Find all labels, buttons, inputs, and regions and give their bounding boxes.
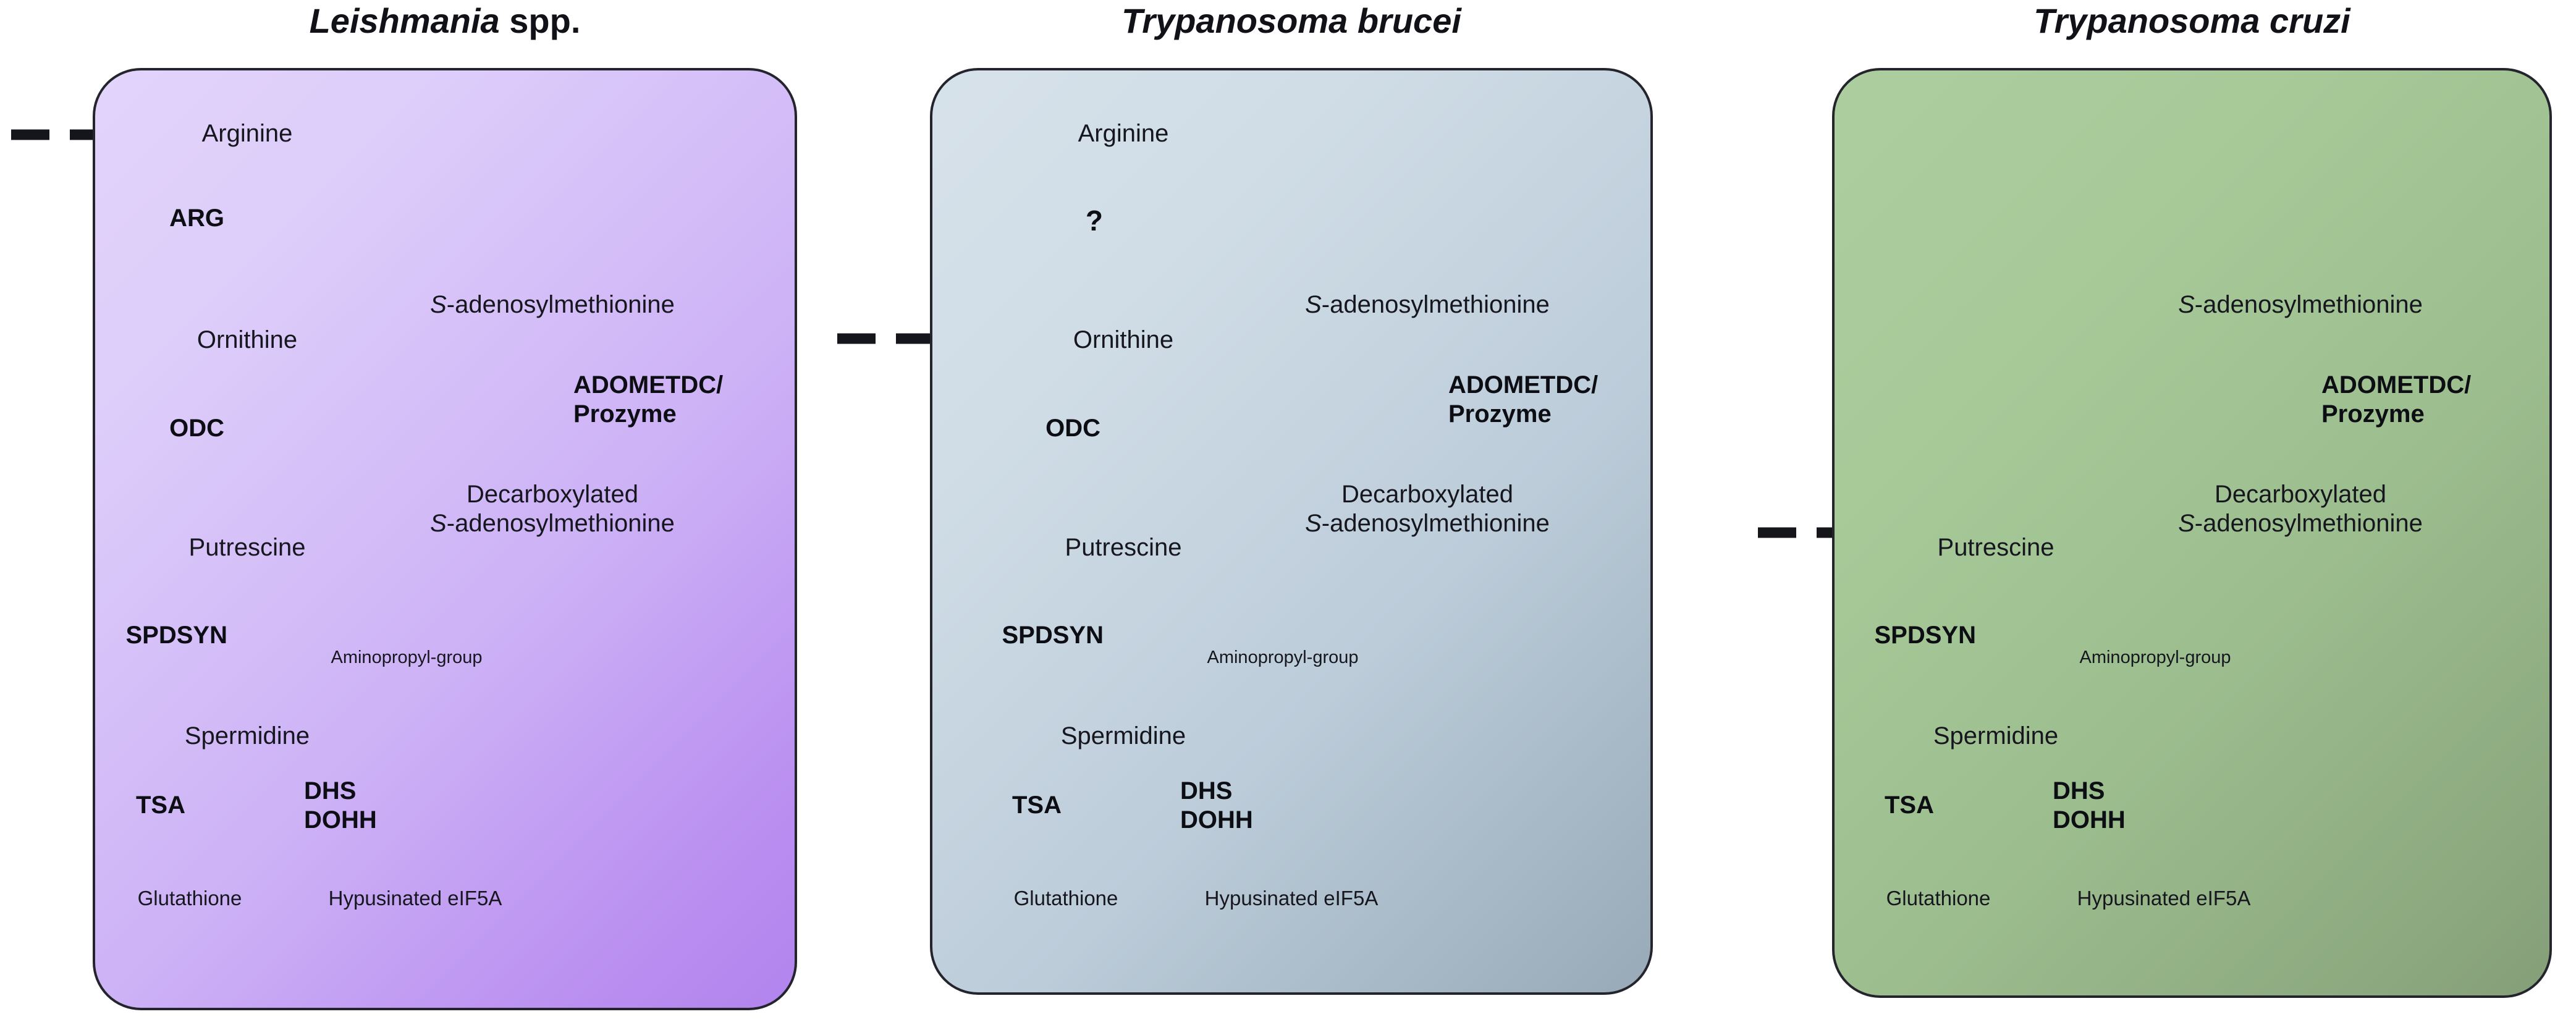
dohh-label: DOHH <box>1180 806 1253 835</box>
adometdc-line2: Prozyme <box>1448 400 1598 429</box>
enzyme-spdsyn-cruzi: SPDSYN <box>1875 621 1977 650</box>
adometdc-line1: ADOMETDC/ <box>573 371 723 400</box>
node-sam-cruzi: S-adenosylmethionine <box>2178 290 2423 319</box>
node-putrescine-brucei: Putrescine <box>1065 533 1182 562</box>
node-spermidine-cruzi: Spermidine <box>1933 722 2058 751</box>
node-putrescine-cruzi: Putrescine <box>1938 533 2054 562</box>
node-dcsam-brucei: Decarboxylated S-adenosylmethionine <box>1305 480 1550 538</box>
title-genus: Leishmania <box>310 1 500 40</box>
node-glutathione-leishmania: Glutathione <box>138 887 242 910</box>
node-dcsam-leishmania: Decarboxylated S-adenosylmethionine <box>430 480 675 538</box>
node-arginine-brucei: Arginine <box>1078 119 1169 148</box>
sam-rest: -adenosylmethionine <box>1322 291 1550 318</box>
node-eif5a-brucei: Hypusinated eIF5A <box>1205 887 1379 910</box>
dhs-label: DHS <box>1180 777 1253 806</box>
adometdc-line2: Prozyme <box>2321 400 2471 429</box>
adometdc-line1: ADOMETDC/ <box>2321 371 2471 400</box>
node-dcsam-cruzi: Decarboxylated S-adenosylmethionine <box>2178 480 2423 538</box>
title-suffix: spp. <box>500 1 581 40</box>
node-sam-leishmania: S-adenosylmethionine <box>430 290 675 319</box>
sam-rest: -adenosylmethionine <box>447 291 675 318</box>
enzyme-tsa-brucei: TSA <box>1012 791 1062 820</box>
node-eif5a-leishmania: Hypusinated eIF5A <box>329 887 502 910</box>
dcsam-prefix: S <box>1305 510 1322 537</box>
enzyme-arg-leishmania: ARG <box>169 204 224 233</box>
sam-prefix: S <box>1305 291 1322 318</box>
node-glutathione-brucei: Glutathione <box>1014 887 1118 910</box>
dcsam-prefix: S <box>2178 510 2195 537</box>
dhs-label: DHS <box>2053 777 2126 806</box>
title-genus: Trypanosoma cruzi <box>2033 1 2350 40</box>
enzyme-adometdc-brucei: ADOMETDC/ Prozyme <box>1448 371 1598 429</box>
dcsam-line1: Decarboxylated <box>430 480 675 509</box>
dcsam-rest: -adenosylmethionine <box>2195 510 2423 537</box>
dcsam-line1: Decarboxylated <box>2178 480 2423 509</box>
sam-prefix: S <box>430 291 447 318</box>
dcsam-line2: S-adenosylmethionine <box>1305 509 1550 538</box>
label-aminopropyl-brucei: Aminopropyl-group <box>1207 648 1358 668</box>
title-genus: Trypanosoma brucei <box>1121 1 1461 40</box>
sam-prefix: S <box>2178 291 2195 318</box>
panel-title-leishmania: Leishmania spp. <box>93 4 797 38</box>
panel-title-brucei: Trypanosoma brucei <box>930 4 1653 38</box>
label-aminopropyl-cruzi: Aminopropyl-group <box>2079 648 2231 668</box>
adometdc-line2: Prozyme <box>573 400 723 429</box>
enzyme-adometdc-cruzi: ADOMETDC/ Prozyme <box>2321 371 2471 429</box>
dcsam-prefix: S <box>430 510 447 537</box>
dcsam-line2: S-adenosylmethionine <box>2178 509 2423 538</box>
dcsam-rest: -adenosylmethionine <box>1322 510 1550 537</box>
enzyme-adometdc-leishmania: ADOMETDC/ Prozyme <box>573 371 723 429</box>
enzyme-tsa-leishmania: TSA <box>136 791 185 820</box>
enzyme-odc-brucei: ODC <box>1045 414 1100 443</box>
enzyme-odc-leishmania: ODC <box>169 414 224 443</box>
sam-rest: -adenosylmethionine <box>2195 291 2423 318</box>
adometdc-line1: ADOMETDC/ <box>1448 371 1598 400</box>
node-ornithine-brucei: Ornithine <box>1073 326 1173 355</box>
dcsam-line1: Decarboxylated <box>1305 480 1550 509</box>
node-ornithine-leishmania: Ornithine <box>197 326 297 355</box>
enzyme-dhs-dohh-brucei: DHS DOHH <box>1180 777 1253 835</box>
node-glutathione-cruzi: Glutathione <box>1886 887 1991 910</box>
dhs-label: DHS <box>304 777 377 806</box>
enzyme-tsa-cruzi: TSA <box>1885 791 1934 820</box>
dohh-label: DOHH <box>304 806 377 835</box>
node-eif5a-cruzi: Hypusinated eIF5A <box>2077 887 2251 910</box>
node-spermidine-brucei: Spermidine <box>1061 722 1186 751</box>
label-aminopropyl-leishmania: Aminopropyl-group <box>331 648 482 668</box>
dcsam-line2: S-adenosylmethionine <box>430 509 675 538</box>
node-spermidine-leishmania: Spermidine <box>185 722 310 751</box>
enzyme-dhs-dohh-cruzi: DHS DOHH <box>2053 777 2126 835</box>
node-sam-brucei: S-adenosylmethionine <box>1305 290 1550 319</box>
enzyme-dhs-dohh-leishmania: DHS DOHH <box>304 777 377 835</box>
enzyme-spdsyn-brucei: SPDSYN <box>1002 621 1104 650</box>
dcsam-rest: -adenosylmethionine <box>447 510 675 537</box>
node-arginine-leishmania: Arginine <box>202 119 293 148</box>
figure-canvas: Leishmania spp. Arginine ARG Ornithine O… <box>0 0 2576 1022</box>
dohh-label: DOHH <box>2053 806 2126 835</box>
enzyme-unknown-brucei: ? <box>1086 204 1103 237</box>
panel-title-cruzi: Trypanosoma cruzi <box>1832 4 2552 38</box>
node-putrescine-leishmania: Putrescine <box>189 533 306 562</box>
enzyme-spdsyn-leishmania: SPDSYN <box>126 621 228 650</box>
